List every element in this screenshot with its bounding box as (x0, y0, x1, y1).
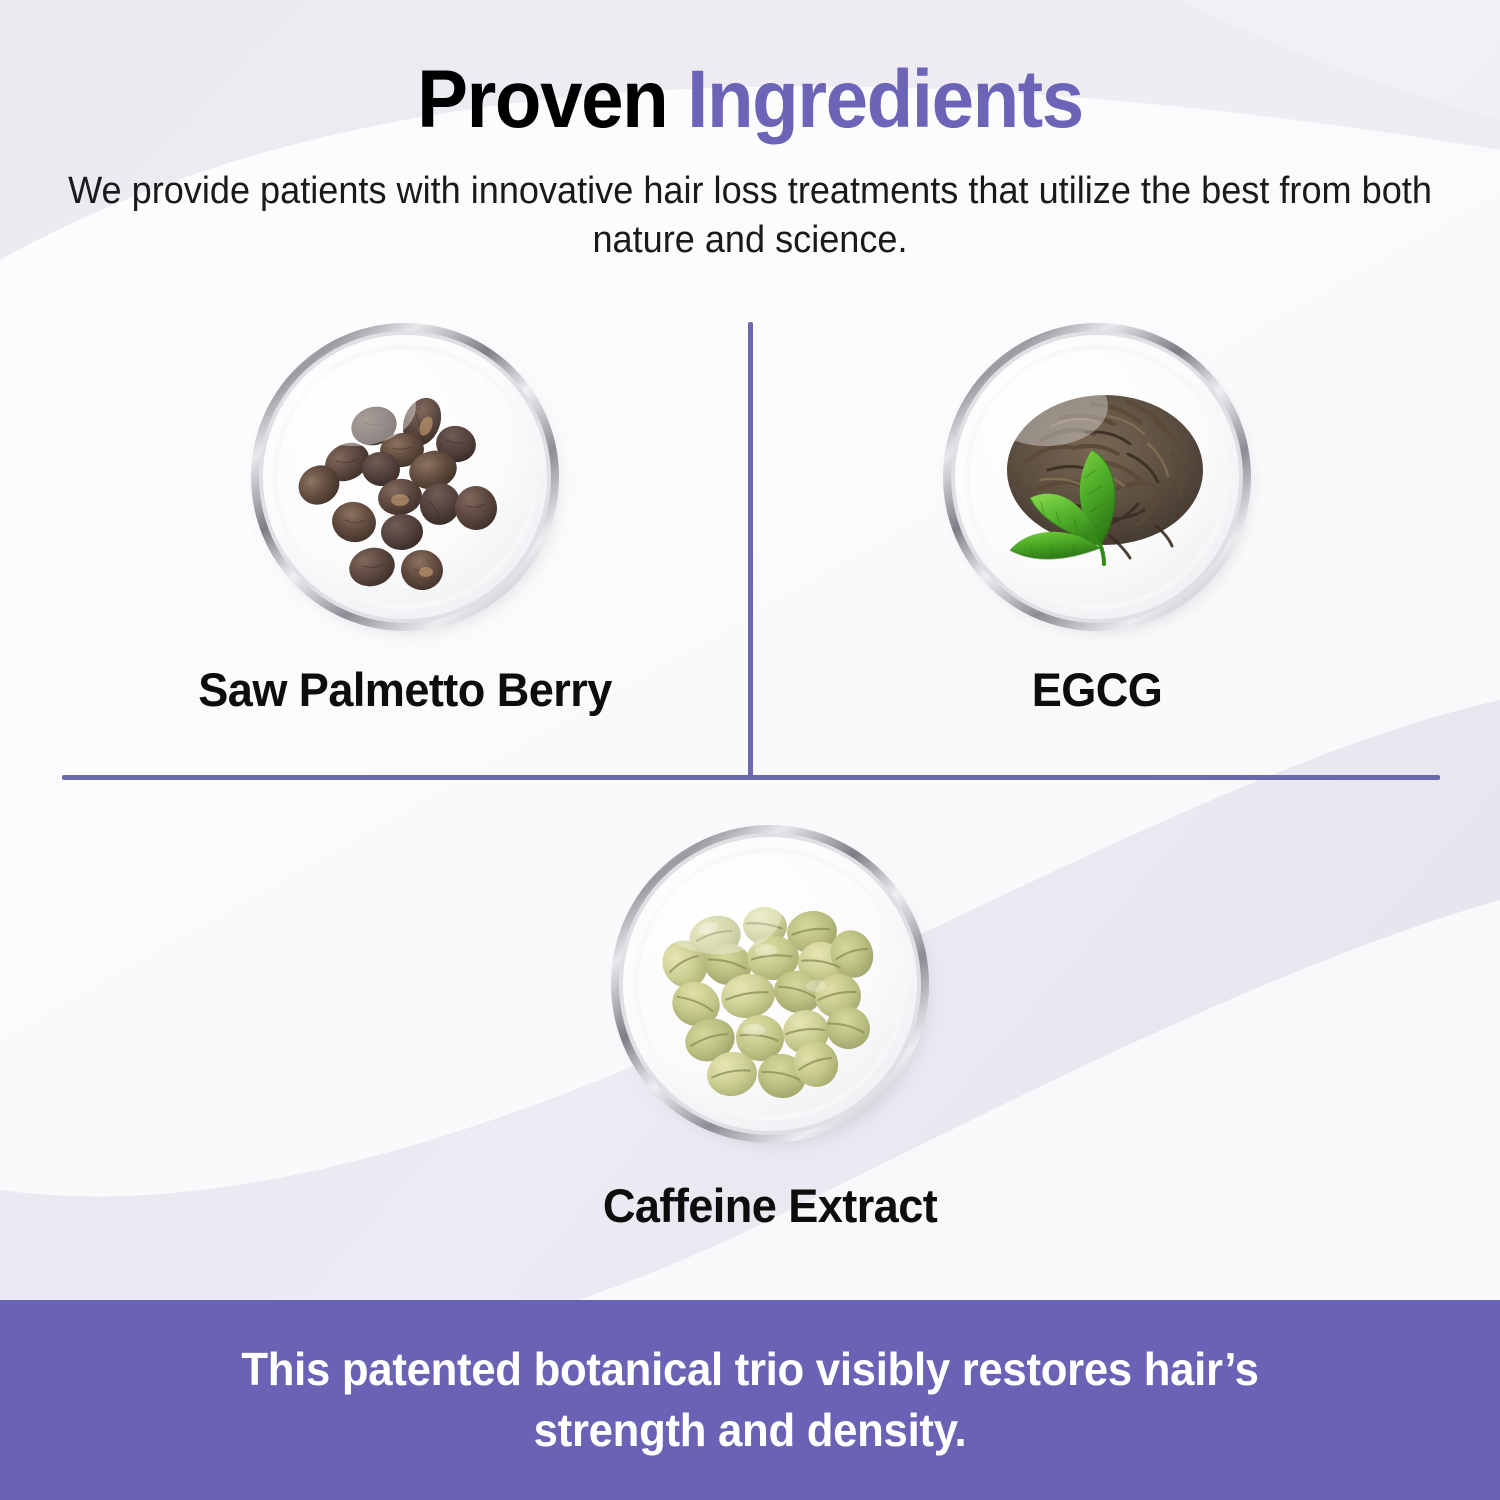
page-title-primary: Proven (417, 54, 667, 145)
dish-wrap (610, 824, 930, 1144)
petri-dish-caffeine-extract-icon (610, 824, 930, 1144)
bottom-banner: This patented botanical trio visibly res… (0, 1300, 1500, 1500)
page-subtitle: We provide patients with innovative hair… (38, 145, 1463, 266)
ingredient-card-caffeine-extract: Caffeine Extract (425, 824, 1115, 1233)
divider-horizontal (62, 775, 1440, 780)
ingredient-label: Caffeine Extract (439, 1144, 1101, 1233)
petri-dish-egcg-icon (942, 322, 1252, 632)
dish-wrap (942, 322, 1252, 632)
ingredient-card-egcg: EGCG (752, 322, 1442, 717)
petri-dish-saw-palmetto-berry-icon (250, 322, 560, 632)
ingredient-label: EGCG (766, 632, 1428, 717)
ingredient-label: Saw Palmetto Berry (74, 632, 736, 717)
page-title-accent: Ingredients (687, 54, 1083, 145)
ingredient-card-saw-palmetto-berry: Saw Palmetto Berry (60, 322, 750, 717)
header: Proven Ingredients We provide patients w… (0, 0, 1500, 265)
page-title: Proven Ingredients (53, 0, 1448, 145)
banner-text: This patented botanical trio visibly res… (190, 1339, 1311, 1461)
dish-wrap (250, 322, 560, 632)
infographic-canvas: Proven Ingredients We provide patients w… (0, 0, 1500, 1500)
